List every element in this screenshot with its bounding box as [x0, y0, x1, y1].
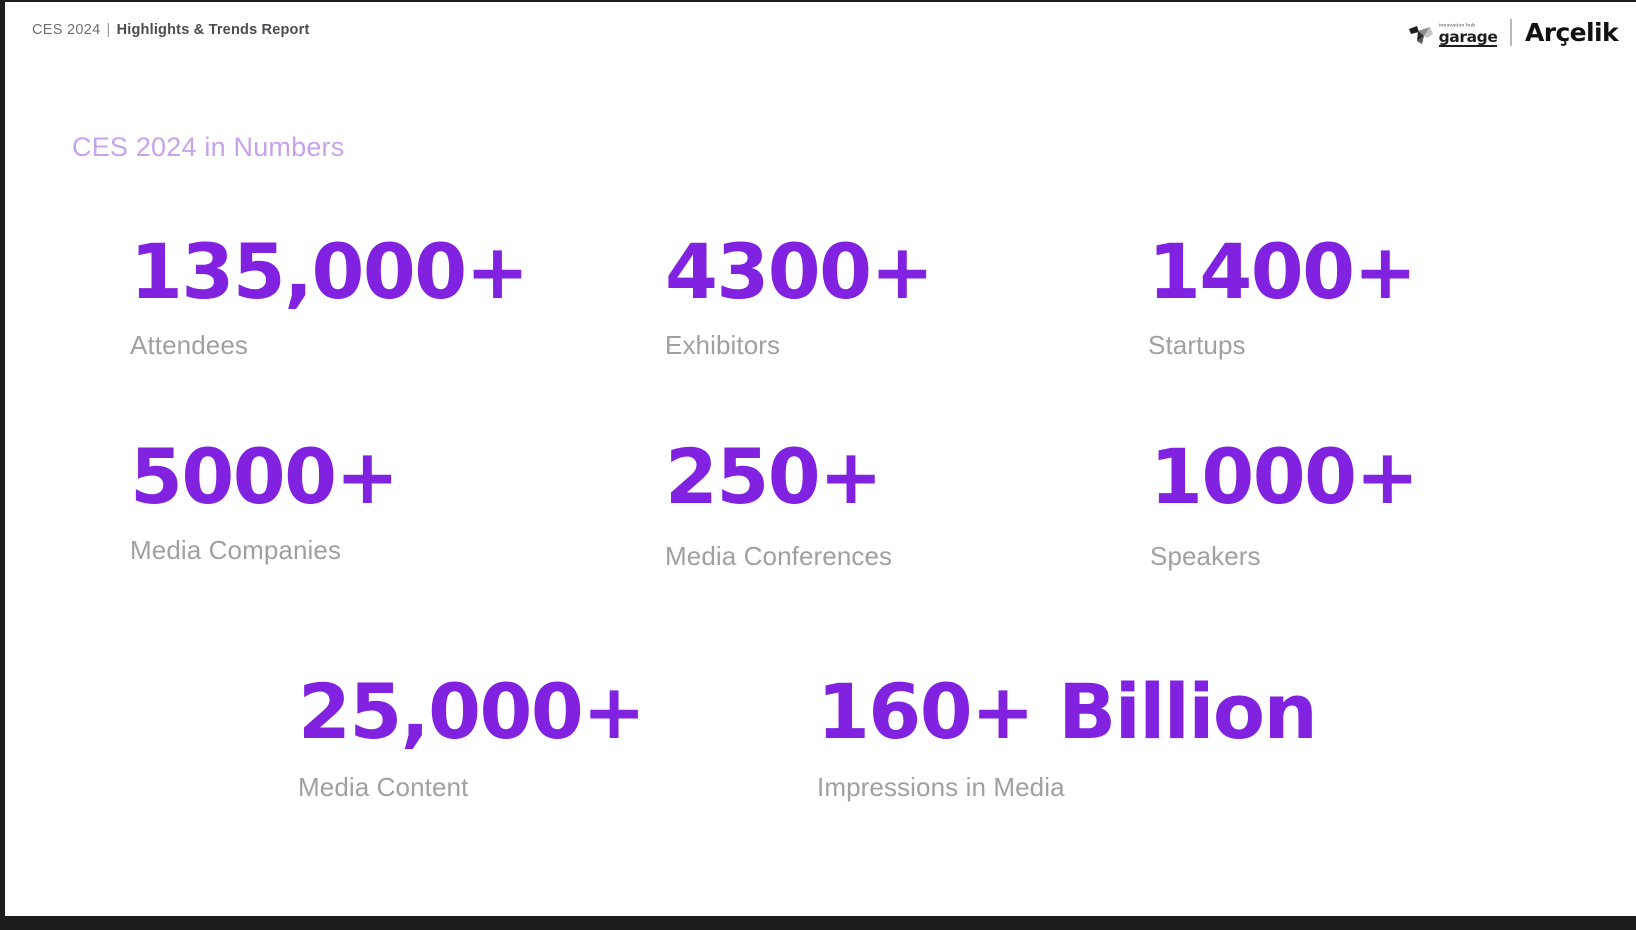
stat-value: 1000+: [1150, 439, 1418, 515]
slide-header: CES 2024|Highlights & Trends Report inno…: [5, 2, 1636, 60]
stat-exhibitors: 4300+ Exhibitors: [665, 234, 933, 361]
breadcrumb: CES 2024|Highlights & Trends Report: [32, 22, 309, 38]
stat-value: 135,000+: [130, 234, 528, 310]
garage-tagline: innovation hub: [1439, 24, 1475, 29]
stat-label: Media Content: [298, 772, 644, 803]
stat-label: Speakers: [1150, 541, 1418, 572]
breadcrumb-separator: |: [101, 22, 117, 38]
stat-impressions-in-media: 160+ Billion Impressions in Media: [817, 674, 1316, 803]
stat-speakers: 1000+ Speakers: [1150, 439, 1418, 572]
stat-value: 5000+: [130, 439, 398, 515]
page-title: CES 2024 in Numbers: [72, 132, 344, 163]
stat-media-conferences: 250+ Media Conferences: [665, 439, 892, 572]
presentation-slide: CES 2024|Highlights & Trends Report inno…: [0, 0, 1636, 930]
stat-value: 25,000+: [298, 674, 644, 750]
stat-label: Attendees: [130, 330, 528, 361]
logo-divider: [1510, 19, 1512, 46]
breadcrumb-report-title: Highlights & Trends Report: [117, 22, 310, 38]
stat-label: Impressions in Media: [817, 772, 1316, 803]
stat-startups: 1400+ Startups: [1148, 234, 1416, 361]
stat-value: 250+: [665, 439, 892, 515]
stat-label: Exhibitors: [665, 330, 933, 361]
logo-lockup: innovation hub garage Arçelik: [1408, 12, 1618, 52]
stat-media-content: 25,000+ Media Content: [298, 674, 644, 803]
breadcrumb-event: CES 2024: [32, 22, 101, 38]
origami-bird-icon: [1408, 25, 1438, 47]
stat-value: 160+ Billion: [817, 674, 1316, 750]
garage-wordmark: innovation hub garage: [1439, 25, 1498, 47]
stat-media-companies: 5000+ Media Companies: [130, 439, 398, 566]
stat-label: Media Conferences: [665, 541, 892, 572]
stat-label: Startups: [1148, 330, 1416, 361]
garage-word: garage: [1439, 30, 1498, 48]
arcelik-brand-logo: Arçelik: [1525, 20, 1618, 45]
stat-label: Media Companies: [130, 535, 398, 566]
garage-logo: innovation hub garage: [1408, 15, 1498, 49]
stat-value: 4300+: [665, 234, 933, 310]
stat-value: 1400+: [1148, 234, 1416, 310]
stat-attendees: 135,000+ Attendees: [130, 234, 528, 361]
